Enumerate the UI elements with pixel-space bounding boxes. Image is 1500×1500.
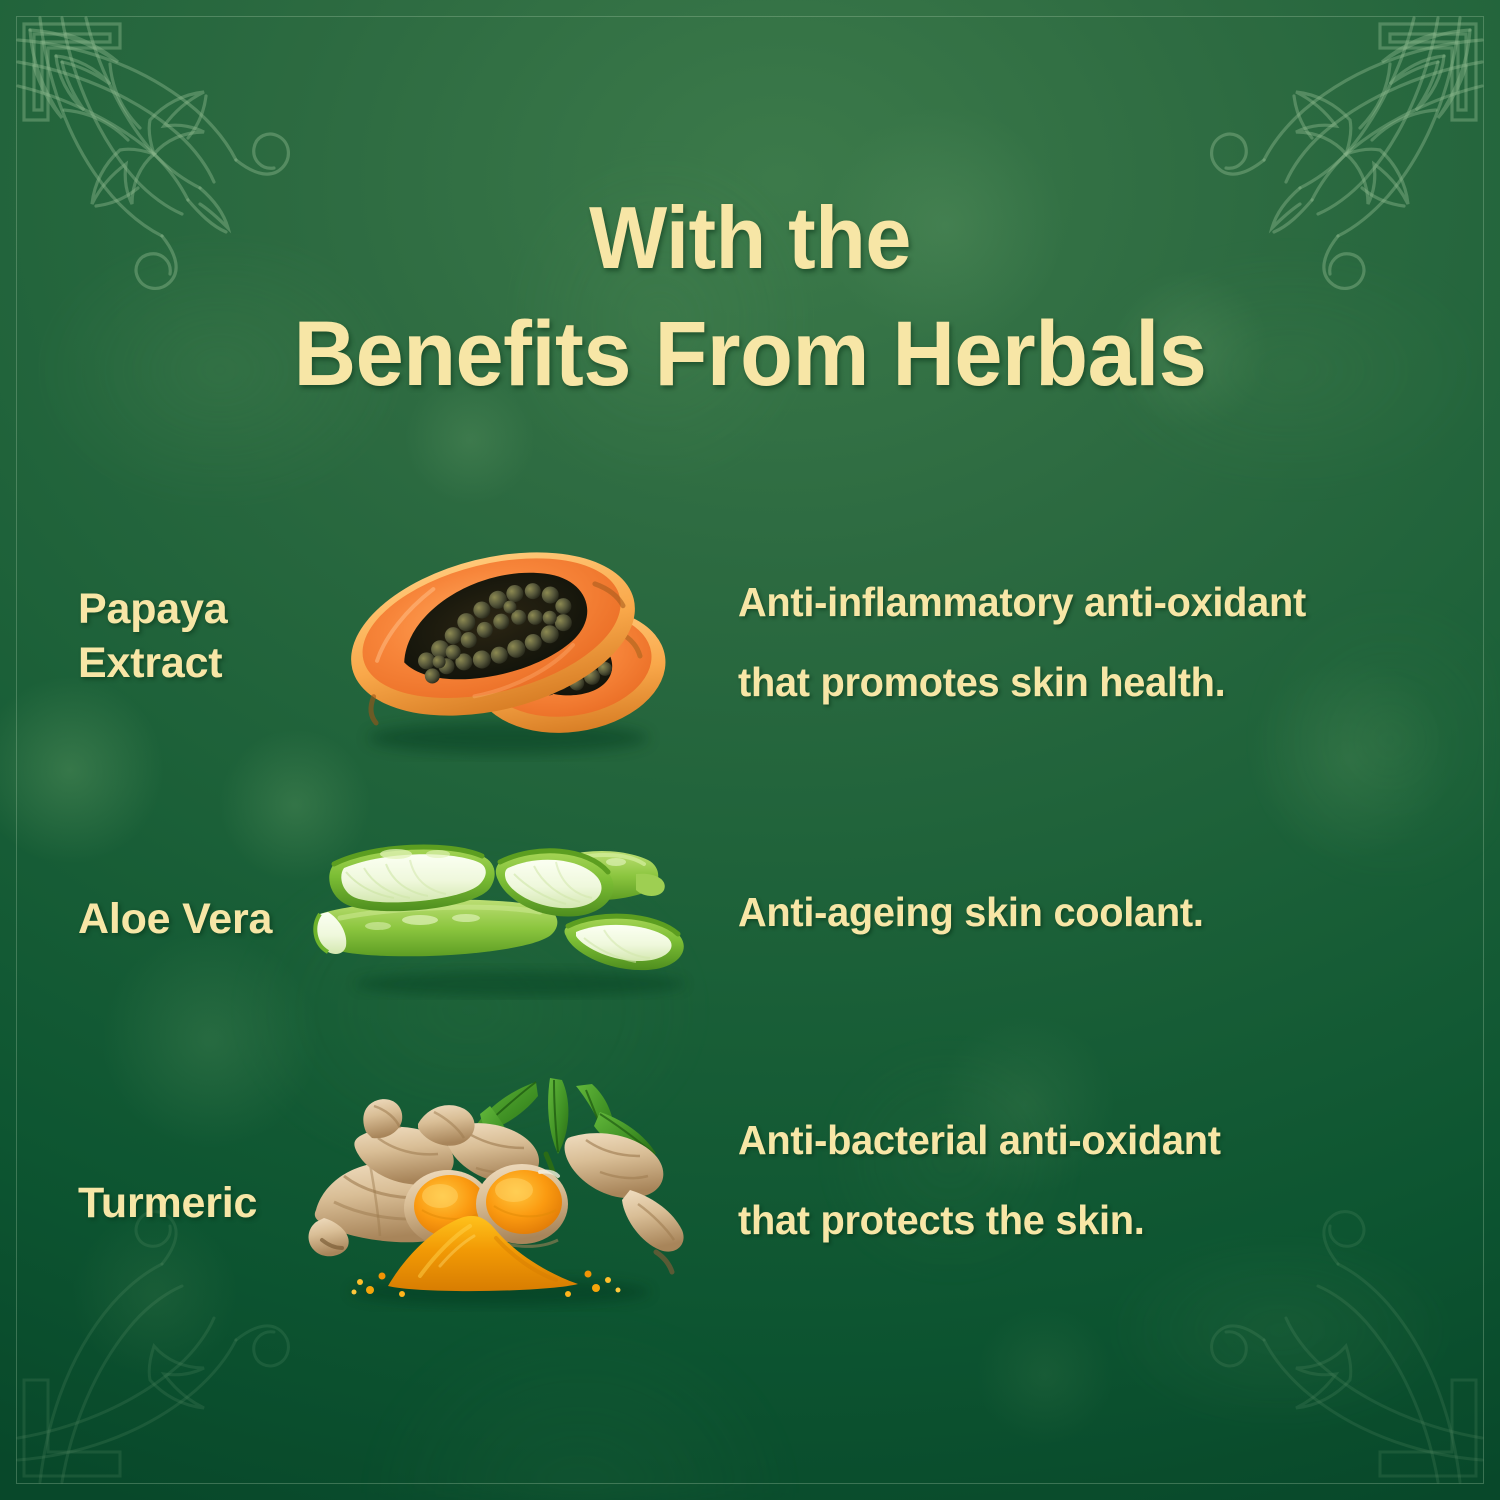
ingredient-row-turmeric: Turmeric [0,1080,1500,1330]
ingredient-row-papaya: Papaya Extract [0,500,1500,770]
papaya-image [318,514,690,762]
ingredient-name-papaya: Papaya Extract [78,582,227,690]
description-line: Anti-ageing skin coolant. [738,872,1436,952]
herbal-benefits-poster: With the Benefits From Herbals Papaya Ex… [0,0,1500,1500]
ingredient-description-papaya: Anti-inflammatory anti-oxidant that prom… [738,562,1436,722]
ingredient-name-line: Extract [78,636,227,690]
ingredient-name-aloe-vera: Aloe Vera [78,892,272,946]
description-line: Anti-bacterial anti-oxidant [738,1100,1436,1180]
headline-line-2: Benefits From Herbals [45,296,1455,412]
ingredient-row-aloe-vera: Aloe Vera [0,830,1500,1020]
ingredient-name-turmeric: Turmeric [78,1176,257,1230]
ingredient-name-line: Aloe Vera [78,892,272,946]
aloe-vera-image [300,828,720,1000]
ingredient-name-line: Turmeric [78,1176,257,1230]
description-line: that protects the skin. [738,1180,1436,1260]
page-title: With the Benefits From Herbals [45,180,1455,412]
turmeric-image [300,1076,700,1312]
ingredient-description-turmeric: Anti-bacterial anti-oxidant that protect… [738,1100,1436,1260]
description-line: that promotes skin health. [738,642,1436,722]
headline-line-1: With the [45,180,1455,296]
description-line: Anti-inflammatory anti-oxidant [738,562,1436,642]
ingredient-description-aloe-vera: Anti-ageing skin coolant. [738,872,1436,952]
ingredient-name-line: Papaya [78,582,227,636]
